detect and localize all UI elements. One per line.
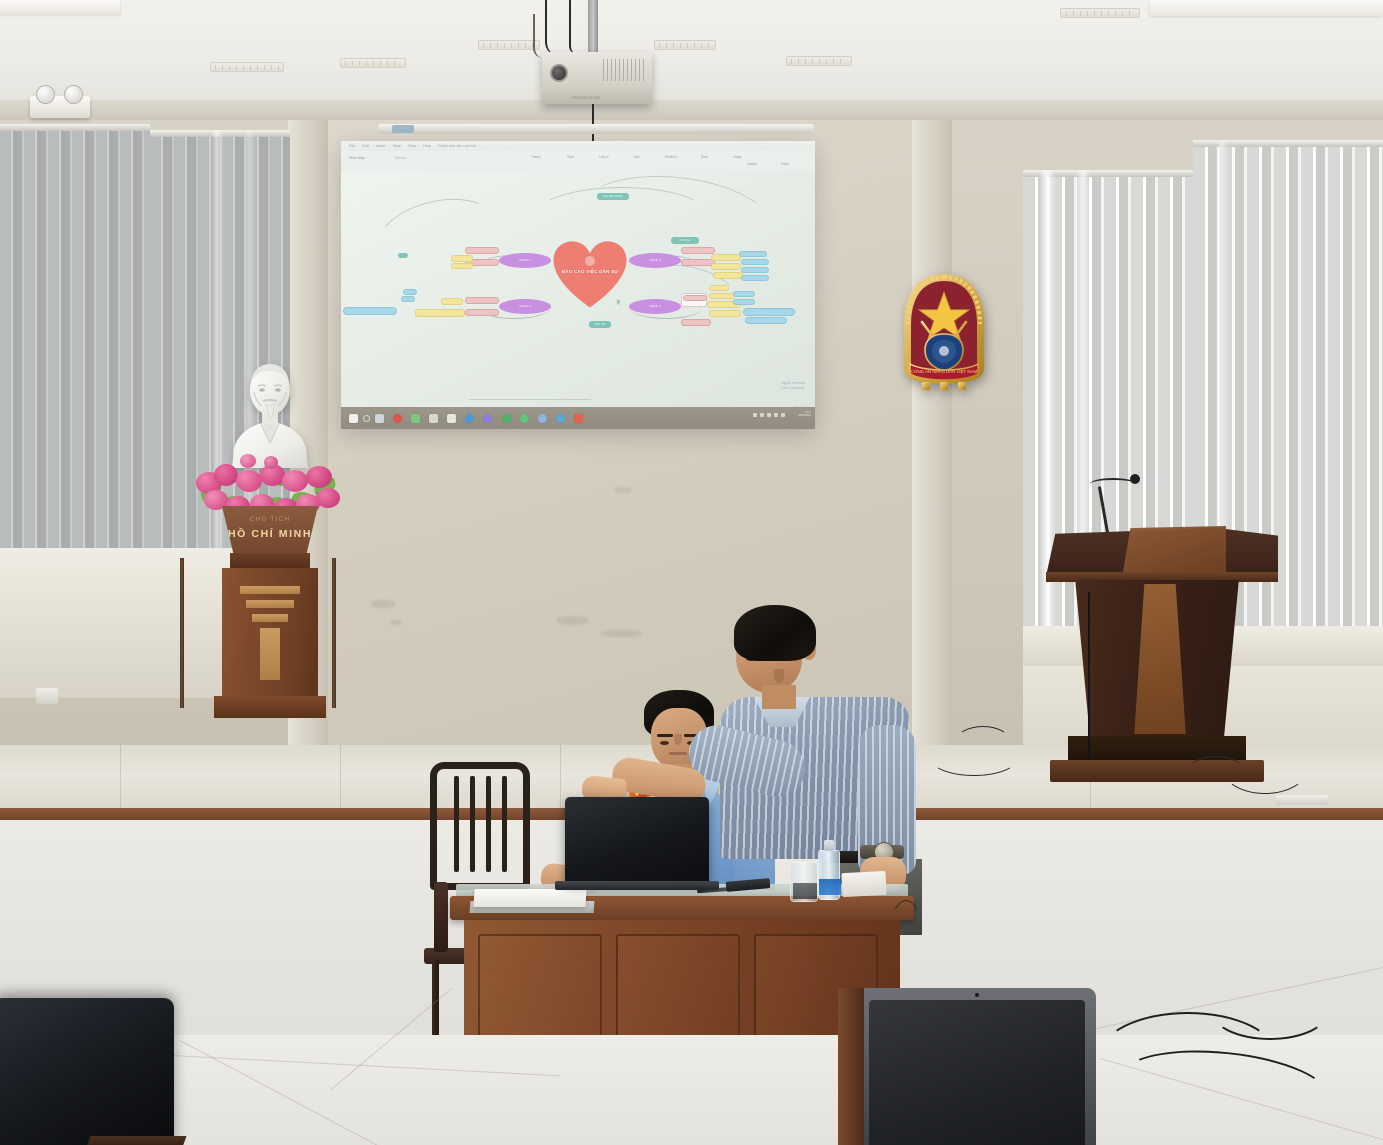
screen-roller-bracket	[392, 125, 414, 133]
toolbar-style[interactable]: Style	[567, 155, 574, 159]
pedestal-base	[214, 696, 326, 718]
battery-icon[interactable]	[781, 413, 785, 417]
projector-brand-label: PROJECTOR	[572, 95, 600, 100]
wall-mark	[556, 616, 590, 625]
credit-line-2: Đơn vị công tác	[781, 386, 805, 391]
excel-icon[interactable]	[502, 414, 511, 423]
mindmap-subnode[interactable]	[343, 307, 397, 315]
officer-eye	[660, 741, 669, 745]
chair-slat	[454, 776, 459, 872]
mindmap-subnode[interactable]	[681, 247, 715, 254]
lotus-bud-icon	[240, 454, 256, 468]
mindmap-subnode[interactable]	[711, 263, 741, 270]
water-bottle[interactable]	[818, 838, 840, 900]
mindmap-subnode[interactable]	[415, 309, 465, 317]
windows-taskbar[interactable]: 10:27 06/06/2024	[341, 407, 815, 429]
mindmap-subnode[interactable]	[681, 259, 715, 266]
menu-item-view[interactable]: View	[408, 144, 416, 148]
camera-icon[interactable]	[429, 414, 438, 423]
officer-mouth	[669, 752, 687, 755]
planter-line-1: CHỦ TỊCH	[222, 516, 318, 523]
memorial-planter: CHỦ TỊCH HỒ CHÍ MINH	[222, 506, 318, 554]
pedestal-inlay	[252, 614, 288, 622]
mindmap-subnode[interactable]	[743, 308, 795, 316]
mindmap-branch-node[interactable]: Nhánh 3	[629, 253, 681, 268]
task-view-icon[interactable]	[375, 414, 384, 423]
laptop-base	[555, 881, 719, 890]
word-icon[interactable]	[538, 414, 547, 423]
document-status: Đã lưu	[395, 156, 406, 160]
mindmap-subnode[interactable]	[739, 251, 767, 257]
mindmap-subnode[interactable]	[709, 285, 729, 291]
foreground-monitor-right[interactable]	[858, 988, 1096, 1145]
wall-mark	[370, 600, 396, 608]
projector-screen-roller[interactable]	[378, 124, 814, 134]
napkin-pack[interactable]	[841, 871, 886, 897]
file-explorer-icon[interactable]	[411, 414, 420, 423]
window-left-1	[0, 124, 150, 554]
mindmap-canvas[interactable]: BÁO CÁO VIỆC DÂN SỰ Nhánh 1 Nhánh 2 Nhán…	[341, 171, 815, 411]
system-tray[interactable]	[753, 413, 785, 417]
center-badge-icon	[585, 256, 595, 266]
clock-icon[interactable]	[556, 414, 565, 423]
projected-image: File Edit Insert Style View Help Chỉnh s…	[341, 141, 815, 429]
wall-outlet[interactable]	[36, 688, 58, 704]
footer-divider	[469, 399, 591, 400]
mindmap-subnode[interactable]	[401, 296, 415, 302]
microphone-icon	[1130, 474, 1140, 484]
foreground-desk-edge	[85, 1136, 186, 1145]
emergency-light	[30, 96, 90, 118]
power-strip[interactable]	[1276, 795, 1328, 805]
wall-mark	[600, 630, 642, 637]
lotus-bud-icon	[264, 456, 278, 469]
panel-button-label[interactable]: Panel	[781, 162, 789, 166]
app-toolbar[interactable]: Mind Map Đã lưu Theme Style Layout Topic…	[341, 151, 815, 171]
webcam-icon	[975, 993, 979, 997]
mindmap-subnode[interactable]	[681, 319, 711, 326]
menu-item-edit[interactable]: Edit	[362, 144, 369, 148]
foreground-laptop-left[interactable]	[0, 998, 174, 1145]
projector-vent-icon	[603, 59, 647, 81]
podium-cable	[1088, 592, 1090, 760]
mindmap-subnode[interactable]	[451, 255, 473, 262]
menu-item-file[interactable]: File	[349, 144, 355, 148]
podium-top-inlay	[1122, 526, 1226, 578]
ceiling-beam	[0, 100, 1383, 120]
opera-browser-icon[interactable]	[393, 414, 402, 423]
foreground-laptop-lid	[0, 998, 174, 1145]
toolbar-topic[interactable]: Topic	[633, 155, 640, 159]
mail-icon[interactable]	[447, 414, 456, 423]
mindmap-tag[interactable]: Thời hạn	[589, 321, 611, 328]
mindmap-subnode[interactable]	[683, 295, 707, 301]
chair-slat	[502, 776, 507, 872]
air-vent-icon	[210, 62, 284, 72]
blind-rail[interactable]	[0, 124, 150, 131]
pen-icon[interactable]	[753, 413, 757, 417]
mindmap-subnode[interactable]	[741, 275, 769, 281]
mindmap-subnode[interactable]	[709, 293, 735, 299]
slide-footer: Người trình bày Đơn vị công tác Trang 1/…	[341, 381, 815, 407]
toolbar-layout[interactable]: Layout	[599, 155, 609, 159]
lotus-flower-icon	[214, 464, 238, 486]
toolbar-image[interactable]: Image	[733, 155, 742, 159]
toolbar-theme[interactable]: Theme	[531, 155, 541, 159]
projector-cable	[569, 0, 577, 54]
chair-slat	[486, 776, 491, 872]
mindmap-subnode[interactable]	[465, 247, 499, 254]
menu-item-insert[interactable]: Insert	[376, 144, 386, 148]
officer-eyebrow	[657, 734, 673, 737]
laptop-screen-back	[565, 797, 709, 883]
windows-start-icon[interactable]	[349, 414, 358, 423]
mindmap-subnode[interactable]	[451, 263, 473, 269]
vertical-blinds-left[interactable]	[0, 124, 150, 554]
mindmap-tag[interactable]: Quy định chung	[597, 193, 629, 200]
mindmap-tag[interactable]	[398, 253, 408, 258]
pedestal-cap	[230, 553, 310, 569]
chrome-browser-icon[interactable]	[483, 414, 492, 423]
ho-chi-minh-memorial: CHỦ TỊCH HỒ CHÍ MINH	[196, 360, 344, 752]
mindmap-subnode[interactable]	[711, 254, 741, 261]
mindmap-subnode[interactable]	[745, 317, 787, 324]
floor-cable-center	[956, 726, 1010, 756]
mindmap-branch-node[interactable]: Nhánh 1	[499, 253, 551, 268]
chair-armrest	[434, 882, 448, 952]
mindmap-subnode[interactable]	[733, 291, 755, 297]
document-path: Chỉnh sửa lần cuối bởi ...	[438, 144, 481, 148]
mindmap-subnode[interactable]	[713, 272, 743, 279]
emergency-bulb-icon	[64, 85, 83, 104]
mindmap-subnode[interactable]	[441, 298, 463, 305]
lotus-flower-icon	[236, 470, 262, 492]
projector-mount-pole	[588, 0, 598, 52]
instructor-hair	[734, 605, 816, 661]
drinking-glass[interactable]	[790, 862, 818, 902]
planter-line-2: HỒ CHÍ MINH	[222, 528, 318, 540]
air-vent-icon	[654, 40, 716, 50]
air-vent-icon	[1060, 8, 1140, 18]
mindmap-branch-node[interactable]: Nhánh 2	[499, 299, 551, 314]
air-vent-icon	[786, 56, 852, 66]
bottle-body	[818, 850, 840, 900]
bottle-cap	[824, 840, 834, 851]
lotus-flower-icon	[316, 488, 340, 508]
menu-item-help[interactable]: Help	[423, 144, 431, 148]
emergency-bulb-icon	[36, 85, 55, 104]
outline-button-label[interactable]: Outline	[747, 162, 757, 166]
mindmap-subnode[interactable]	[465, 309, 499, 316]
menu-item-style[interactable]: Style	[393, 144, 402, 148]
mindmap-center-node[interactable]: BÁO CÁO VIỆC DÂN SỰ	[552, 239, 628, 309]
mindmap-subnode[interactable]	[709, 310, 741, 317]
instructor-neck	[762, 685, 796, 709]
black-laptop[interactable]	[565, 797, 709, 889]
toolbar-relation[interactable]: Relation	[665, 155, 677, 159]
pedestal-inlay	[260, 628, 280, 680]
white-papers[interactable]	[473, 889, 586, 907]
light-strip	[1150, 0, 1383, 16]
conference-room-photo: PROJECTOR File Edit Insert Style View He…	[0, 0, 1383, 1145]
presenter-credit: Người trình bày Đơn vị công tác	[781, 381, 805, 391]
mindmap-tag[interactable]: Trình tự	[671, 237, 699, 244]
chair-backrest	[430, 762, 530, 890]
officer-nose	[674, 734, 682, 745]
toolbar-note[interactable]: Note	[701, 155, 708, 159]
light-strip	[0, 0, 120, 14]
air-vent-icon	[478, 40, 540, 50]
taskbar-clock[interactable]: 10:27 06/06/2024	[798, 411, 811, 418]
mindmap-branch-node[interactable]: Nhánh 4	[629, 299, 681, 314]
instructor-nose	[774, 669, 784, 683]
mindmap-subnode[interactable]	[733, 299, 755, 305]
volume-icon[interactable]	[774, 413, 778, 417]
foreground-post	[838, 988, 864, 1145]
mindmap-center-label: BÁO CÁO VIỆC DÂN SỰ	[552, 269, 628, 275]
vietnam-public-security-emblem: CÔNG AN NHÂN DÂN VIỆT NAM	[898, 272, 990, 394]
podium-microphone-stem	[1098, 486, 1109, 534]
whatsapp-icon[interactable]	[520, 414, 529, 423]
chair-slat	[470, 776, 475, 872]
lotus-flower-icon	[282, 470, 308, 492]
pedestal-inlay	[246, 600, 294, 608]
floor-cable-right	[1186, 756, 1246, 790]
bottle-label	[819, 879, 841, 895]
document-title[interactable]: Mind Map	[349, 156, 365, 160]
network-icon[interactable]	[767, 413, 771, 417]
lotus-flower-icon	[306, 466, 332, 488]
pedestal-guard-rod-left	[180, 558, 184, 708]
mindmap-subnode[interactable]	[741, 267, 769, 273]
mindmap-subnode[interactable]	[403, 289, 417, 295]
mindmap-subnode[interactable]	[465, 297, 499, 304]
pedestal-body	[222, 568, 318, 700]
monitor-screen[interactable]	[869, 1000, 1085, 1145]
pedestal-inlay	[240, 586, 300, 594]
ceiling-mounted-projector: PROJECTOR	[542, 52, 652, 104]
app-menu-bar[interactable]: File Edit Insert Style View Help Chỉnh s…	[341, 141, 815, 151]
pdf-icon[interactable]	[574, 414, 583, 423]
emblem-banner-text: CÔNG AN NHÂN DÂN VIỆT NAM	[911, 369, 978, 374]
wall-mark	[614, 487, 632, 493]
chevron-up-icon[interactable]	[760, 413, 764, 417]
monitor-cable	[1210, 980, 1330, 1040]
mindmap-subnode[interactable]	[741, 259, 769, 265]
projection-screen: File Edit Insert Style View Help Chỉnh s…	[341, 141, 815, 429]
wall-mark	[389, 620, 403, 625]
pedestal-guard-rod-right	[332, 558, 336, 708]
projector-lens-icon	[550, 64, 568, 82]
edge-browser-icon[interactable]	[465, 414, 474, 423]
air-vent-icon	[340, 58, 406, 68]
search-icon[interactable]	[363, 415, 370, 422]
